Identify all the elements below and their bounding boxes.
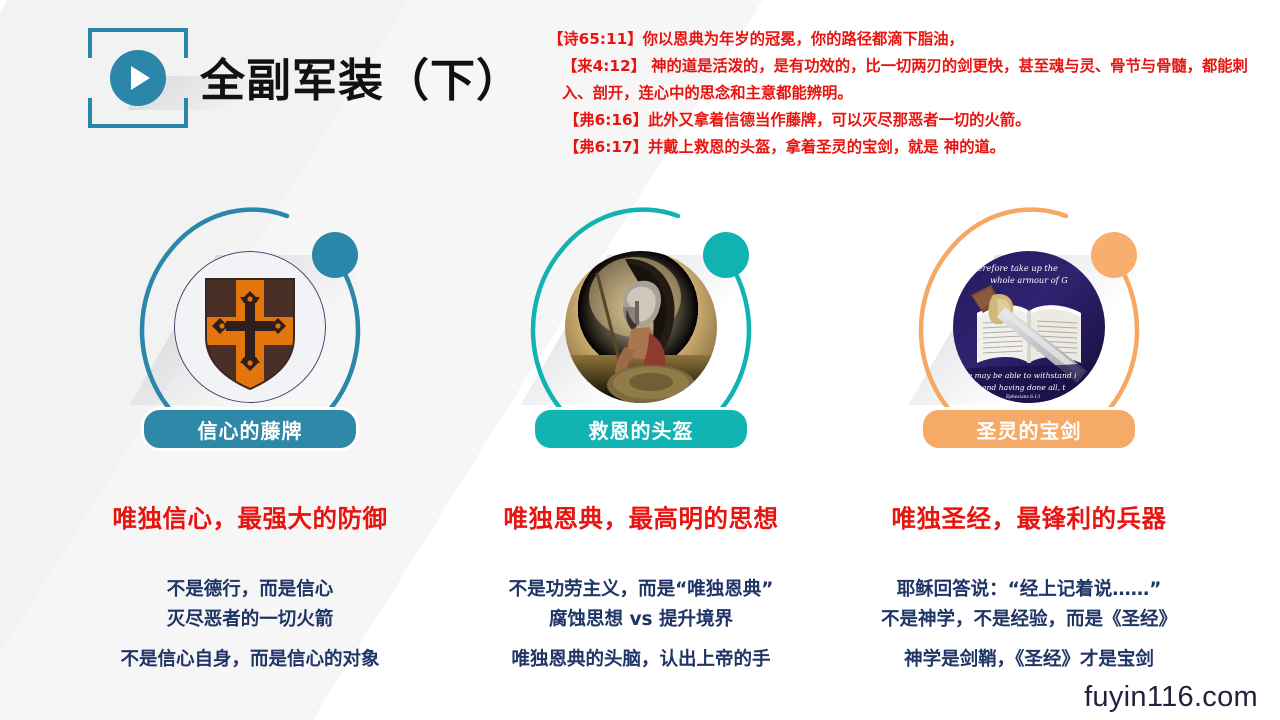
red-heading-3: 唯独圣经，最锋利的兵器 [834, 500, 1224, 535]
body-line: 腐蚀思想 vs 提升境界 [446, 605, 836, 635]
body-line: 不是信心自身，而是信心的对象 [55, 645, 445, 675]
svg-text:whole armour of G: whole armour of G [990, 275, 1068, 285]
column-sword-of-the-spirit: Wherefore take up the whole armour of G … [834, 185, 1224, 720]
body-line: 不是功劳主义，而是“唯独恩典” [446, 575, 836, 605]
scripture-line-4: 【弗6:17】并戴上救恩的头盔，拿着圣灵的宝剑，就是 神的道。 [548, 134, 1272, 161]
page-title: 全副军装（下） [200, 44, 522, 109]
slide-root: 全副军装（下） 【诗65:11】你以恩典为年岁的冠冕，你的路径都滴下脂油， 【来… [0, 0, 1280, 720]
armour-columns: 信心的藤牌 唯独信心，最强大的防御 不是德行，而是信心 灭尽恶者的一切火箭 不是… [0, 185, 1280, 720]
scripture-line-1: 【诗65:11】你以恩典为年岁的冠冕，你的路径都滴下脂油， [548, 26, 1272, 53]
badge-label: 信心的藤牌 [198, 415, 303, 444]
svg-text:day, and having done all, t: day, and having done all, t [965, 383, 1067, 392]
slide-header: 全副军装（下） 【诗65:11】你以恩典为年岁的冠冕，你的路径都滴下脂油， 【来… [0, 0, 1280, 185]
body-line: 唯独恩典的头脑，认出上帝的手 [446, 645, 836, 675]
play-button-icon [110, 50, 166, 106]
badge-helmet-of-salvation[interactable]: 救恩的头盔 [532, 407, 750, 451]
svg-text:Wherefore take up the: Wherefore take up the [964, 263, 1058, 273]
scripture-block: 【诗65:11】你以恩典为年岁的冠冕，你的路径都滴下脂油， 【来4:12】 神的… [548, 26, 1272, 161]
badge-label: 圣灵的宝剑 [977, 415, 1082, 444]
shield-with-cross-icon [174, 251, 326, 403]
svg-text:Ephesians 6:13: Ephesians 6:13 [1005, 395, 1040, 400]
body-line: 不是德行，而是信心 [55, 575, 445, 605]
brand-logo [88, 28, 188, 128]
scripture-line-3: 【弗6:16】此外又拿着信德当作藤牌，可以灭尽那恶者一切的火箭。 [548, 107, 1272, 134]
body-text-3: 耶稣回答说：“经上记着说……” 不是神学，不是经验，而是《圣经》 神学是剑鞘，《… [834, 575, 1224, 675]
badge-label: 救恩的头盔 [589, 415, 694, 444]
spartan-warrior-photo [565, 251, 717, 403]
scripture-line-2: 【来4:12】 神的道是活泼的，是有功效的，比一切两刃的剑更快，甚至魂与灵、骨节… [548, 53, 1272, 107]
site-watermark: fuyin116.com [1084, 681, 1258, 714]
body-line: 耶稣回答说：“经上记着说……” [834, 575, 1224, 605]
column-shield-of-faith: 信心的藤牌 唯独信心，最强大的防御 不是德行，而是信心 灭尽恶者的一切火箭 不是… [55, 185, 445, 720]
body-text-1: 不是德行，而是信心 灭尽恶者的一切火箭 不是信心自身，而是信心的对象 [55, 575, 445, 675]
body-line: 神学是剑鞘，《圣经》才是宝剑 [834, 645, 1224, 675]
column-helmet-of-salvation: 救恩的头盔 唯独恩典，最高明的思想 不是功劳主义，而是“唯独恩典” 腐蚀思想 v… [446, 185, 836, 720]
badge-shield-of-faith[interactable]: 信心的藤牌 [141, 407, 359, 451]
body-line: 灭尽恶者的一切火箭 [55, 605, 445, 635]
red-heading-1: 唯独信心，最强大的防御 [55, 500, 445, 535]
red-heading-2: 唯独恩典，最高明的思想 [446, 500, 836, 535]
sword-on-bible-photo: Wherefore take up the whole armour of G … [953, 251, 1105, 403]
svg-text:at ye may be able to withstand: at ye may be able to withstand i [953, 371, 1077, 380]
badge-sword-of-the-spirit[interactable]: 圣灵的宝剑 [920, 407, 1138, 451]
body-text-2: 不是功劳主义，而是“唯独恩典” 腐蚀思想 vs 提升境界 唯独恩典的头脑，认出上… [446, 575, 836, 675]
body-line: 不是神学，不是经验，而是《圣经》 [834, 605, 1224, 635]
